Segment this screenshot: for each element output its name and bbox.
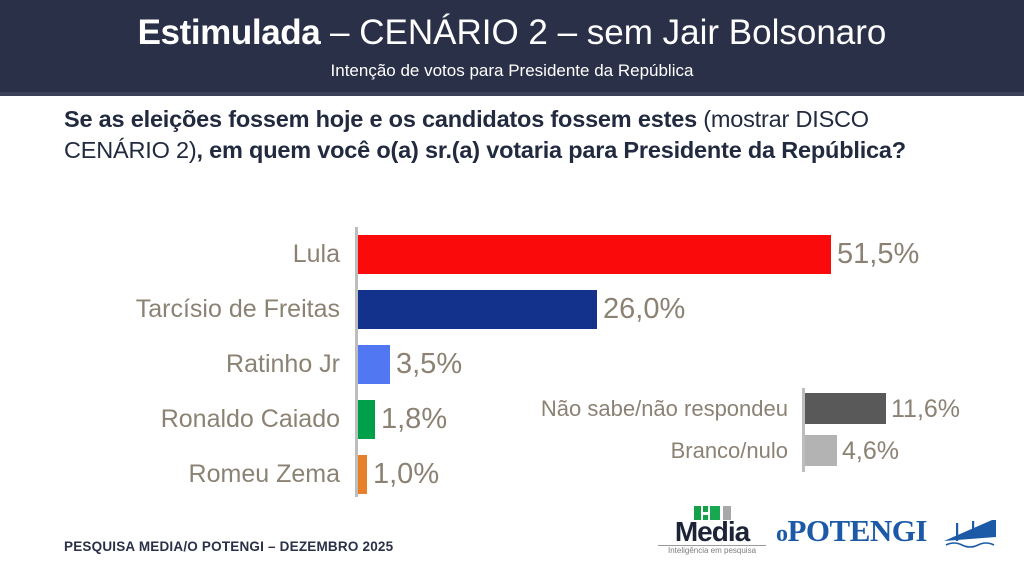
media-logo: Media Inteligência em pesquisa <box>656 506 768 556</box>
question-part-3: , em quem você o(a) sr.(a) votaria para … <box>197 137 906 163</box>
page-title: Estimulada – CENÁRIO 2 – sem Jair Bolson… <box>0 13 1024 53</box>
bar-label-tarcisio: Tarcísio de Freitas <box>0 282 340 337</box>
secondary-bar-row: Não sabe/não respondeu 11,6% <box>0 388 1024 430</box>
media-logo-tagline: Inteligência em pesquisa <box>656 546 768 556</box>
bar-label-ratinho: Ratinho Jr <box>0 337 340 392</box>
secondary-bar-chart: Não sabe/não respondeu 11,6% Branco/nulo… <box>0 386 1024 476</box>
footer-source-note: PESQUISA MEDIA/O POTENGI – DEZEMBRO 2025 <box>64 539 393 554</box>
page-subtitle: Intenção de votos para Presidente da Rep… <box>0 60 1024 82</box>
bar-label-branco-nulo: Branco/nulo <box>420 430 788 472</box>
bar-value-branco-nulo: 4,6% <box>842 430 899 472</box>
question-part-1: Se as eleições fossem hoje e os candidat… <box>64 106 703 132</box>
secondary-bar-row: Branco/nulo 4,6% <box>0 430 1024 472</box>
bar-value-tarcisio: 26,0% <box>603 282 685 337</box>
bar-row: Tarcísio de Freitas 26,0% <box>0 282 1024 337</box>
opotengi-prefix: o <box>776 521 788 547</box>
page-title-bold: Estimulada <box>138 13 321 52</box>
bar-value-lula: 51,5% <box>837 227 919 282</box>
bar-row: Lula 51,5% <box>0 227 1024 282</box>
bar-value-ratinho: 3,5% <box>396 337 462 392</box>
media-logo-wordmark: Media <box>656 517 768 547</box>
opotengi-name: POTENGI <box>788 513 927 548</box>
bar-nao-sabe <box>805 393 886 424</box>
bar-label-lula: Lula <box>0 227 340 282</box>
page-title-light: – CENÁRIO 2 – sem Jair Bolsonaro <box>320 13 886 52</box>
bar-label-nao-sabe: Não sabe/não respondeu <box>420 388 788 430</box>
bar-branco-nulo <box>805 435 837 466</box>
survey-question: Se as eleições fossem hoje e os candidat… <box>64 104 974 166</box>
bar-value-nao-sabe: 11,6% <box>891 388 960 430</box>
bar-row: Ratinho Jr 3,5% <box>0 337 1024 392</box>
bar-ratinho <box>358 345 390 384</box>
bar-lula <box>358 235 831 274</box>
opotengi-wordmark: oPOTENGI <box>776 512 927 553</box>
bar-tarcisio <box>358 290 597 329</box>
bridge-icon <box>942 515 998 549</box>
header-divider <box>0 92 1024 96</box>
opotengi-logo: oPOTENGI <box>776 512 998 554</box>
